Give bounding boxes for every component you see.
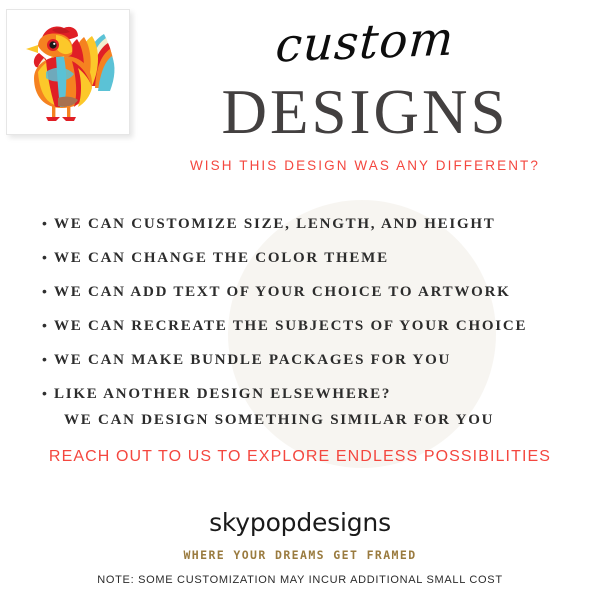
list-item-label: WE CAN RECREATE THE SUBJECTS OF YOUR CHO… (54, 318, 527, 335)
list-item-label: WE CAN ADD TEXT OF YOUR CHOICE TO ARTWOR… (54, 284, 511, 301)
brand-tagline: WHERE YOUR DREAMS GET FRAMED (0, 548, 600, 562)
list-item-label: WE CAN MAKE BUNDLE PACKAGES FOR YOU (54, 352, 451, 369)
artwork-mat (12, 15, 124, 129)
list-item: • LIKE ANOTHER DESIGN ELSEWHERE? (42, 386, 588, 403)
list-item: • WE CAN RECREATE THE SUBJECTS OF YOUR C… (42, 318, 588, 335)
framed-artwork (6, 9, 130, 135)
call-to-action-text: REACH OUT TO US TO EXPLORE ENDLESS POSSI… (0, 448, 600, 466)
bullet-dot-icon: • (42, 352, 54, 366)
list-item: • WE CAN ADD TEXT OF YOUR CHOICE TO ARTW… (42, 284, 588, 301)
bullet-dot-icon: • (42, 318, 54, 332)
footer-note: NOTE: SOME CUSTOMIZATION MAY INCUR ADDIT… (0, 574, 600, 586)
headline-subtitle: WISH THIS DESIGN WAS ANY DIFFERENT? (130, 158, 600, 173)
brand-name: skypopdesigns (0, 508, 600, 537)
bullet-dot-icon: • (42, 284, 54, 298)
list-item: • WE CAN CUSTOMIZE SIZE, LENGTH, AND HEI… (42, 216, 588, 233)
script-headline: custom (129, 9, 600, 77)
list-item: • WE CAN MAKE BUNDLE PACKAGES FOR YOU (42, 352, 588, 369)
headline-block: custom DESIGNS WISH THIS DESIGN WAS ANY … (130, 18, 600, 173)
promo-graphic-canvas: custom DESIGNS WISH THIS DESIGN WAS ANY … (0, 0, 600, 600)
capability-list: • WE CAN CUSTOMIZE SIZE, LENGTH, AND HEI… (42, 216, 588, 446)
bullet-dot-icon: • (42, 216, 54, 230)
list-item-label: WE CAN CUSTOMIZE SIZE, LENGTH, AND HEIGH… (54, 216, 496, 233)
bullet-dot-icon: • (42, 250, 54, 264)
list-item-continuation: WE CAN DESIGN SOMETHING SIMILAR FOR YOU (64, 412, 588, 429)
list-item-label: LIKE ANOTHER DESIGN ELSEWHERE? (54, 386, 391, 403)
page-title: DESIGNS (130, 81, 600, 144)
bullet-dot-icon: • (42, 386, 54, 400)
list-item: • WE CAN CHANGE THE COLOR THEME (42, 250, 588, 267)
rooster-icon (12, 15, 124, 129)
list-item-label: WE CAN CHANGE THE COLOR THEME (54, 250, 389, 267)
